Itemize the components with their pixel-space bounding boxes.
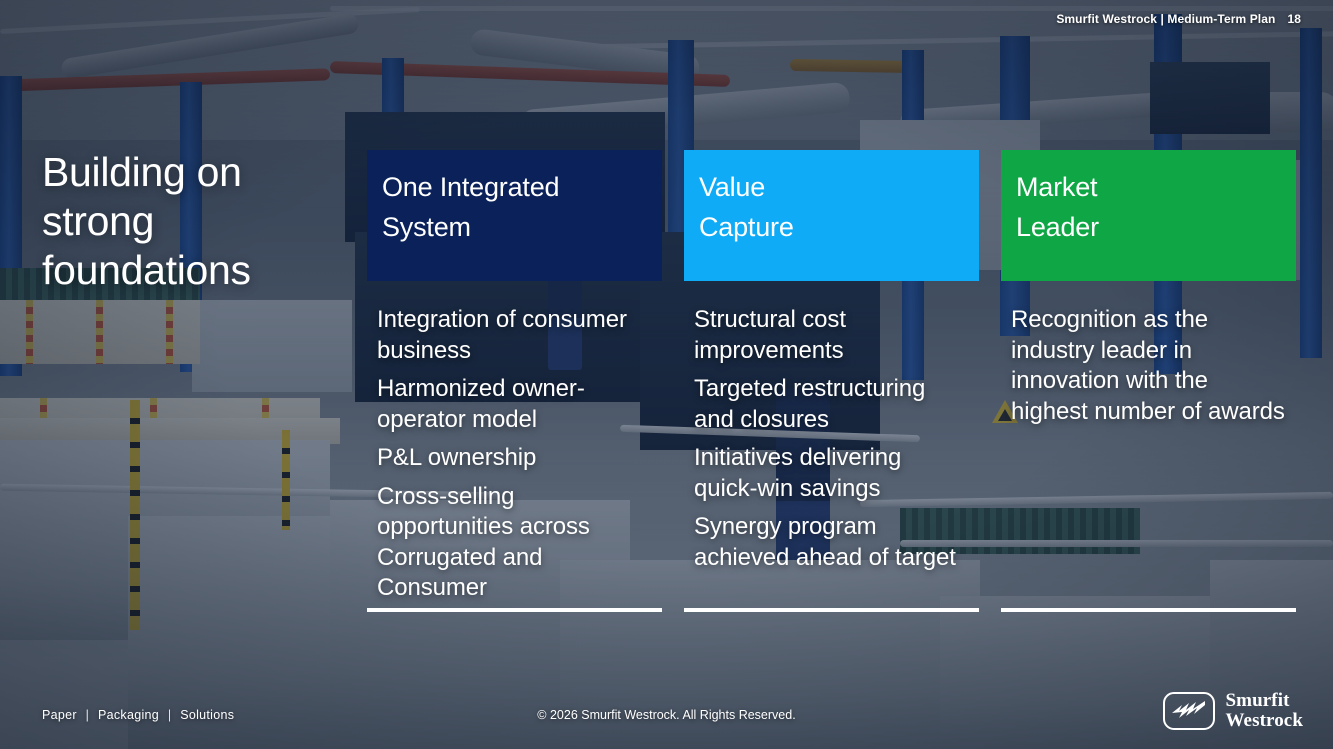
pillar-bullet-list: Integration of consumer business Harmoni…: [367, 281, 662, 604]
pillar-underline-rule: [684, 608, 979, 612]
pillar-column-market-leader: Market Leader Recognition as the industr…: [1001, 150, 1296, 612]
pillar-heading-line1: Value: [699, 167, 961, 207]
pillar-column-one-integrated-system: One Integrated System Integration of con…: [367, 150, 662, 612]
pillar-columns: One Integrated System Integration of con…: [367, 150, 1297, 612]
list-item: Synergy program achieved ahead of target: [694, 512, 969, 573]
pillar-underline-rule: [367, 608, 662, 612]
list-item: Integration of consumer business: [377, 305, 652, 366]
slide-header: Smurfit Westrock | Medium-Term Plan 18: [1056, 12, 1301, 26]
pillar-heading-line2: Leader: [1016, 207, 1278, 247]
brand-logo: Smurfit Westrock: [1163, 691, 1304, 731]
list-item: Structural cost improvements: [694, 305, 969, 366]
pillar-heading-line1: One Integrated: [382, 167, 644, 207]
brand-logo-line1: Smurfit: [1226, 691, 1304, 711]
page-number: 18: [1287, 12, 1301, 26]
list-item: Cross-selling opportunities across Corru…: [377, 482, 652, 604]
header-title: Smurfit Westrock | Medium-Term Plan: [1056, 12, 1275, 26]
list-item: Initiatives delivering quick-win savings: [694, 443, 969, 504]
list-item: Targeted restructuring and closures: [694, 374, 969, 435]
pillar-column-value-capture: Value Capture Structural cost improvemen…: [684, 150, 979, 612]
pillar-underline-rule: [1001, 608, 1296, 612]
list-item: Harmonized owner-operator model: [377, 374, 652, 435]
list-item: Recognition as the industry leader in in…: [1011, 305, 1286, 427]
pillar-heading-line2: System: [382, 207, 644, 247]
pillar-heading-box: Market Leader: [1001, 150, 1296, 281]
smurfit-westrock-mark-icon: [1163, 692, 1215, 730]
pillar-heading-box: Value Capture: [684, 150, 979, 281]
pillar-heading-line2: Capture: [699, 207, 961, 247]
brand-logo-text: Smurfit Westrock: [1226, 691, 1304, 731]
page-title: Building on strong foundations: [42, 148, 352, 295]
pillar-heading-box: One Integrated System: [367, 150, 662, 281]
copyright-notice: © 2026 Smurfit Westrock. All Rights Rese…: [0, 708, 1333, 722]
brand-logo-line2: Westrock: [1226, 711, 1304, 731]
slide-canvas: Smurfit Westrock | Medium-Term Plan 18 B…: [0, 0, 1333, 749]
pillar-bullet-list: Recognition as the industry leader in in…: [1001, 281, 1296, 427]
pillar-heading-line1: Market: [1016, 167, 1278, 207]
pillar-bullet-list: Structural cost improvements Targeted re…: [684, 281, 979, 573]
list-item: P&L ownership: [377, 443, 652, 474]
slide-content: Smurfit Westrock | Medium-Term Plan 18 B…: [0, 0, 1333, 749]
